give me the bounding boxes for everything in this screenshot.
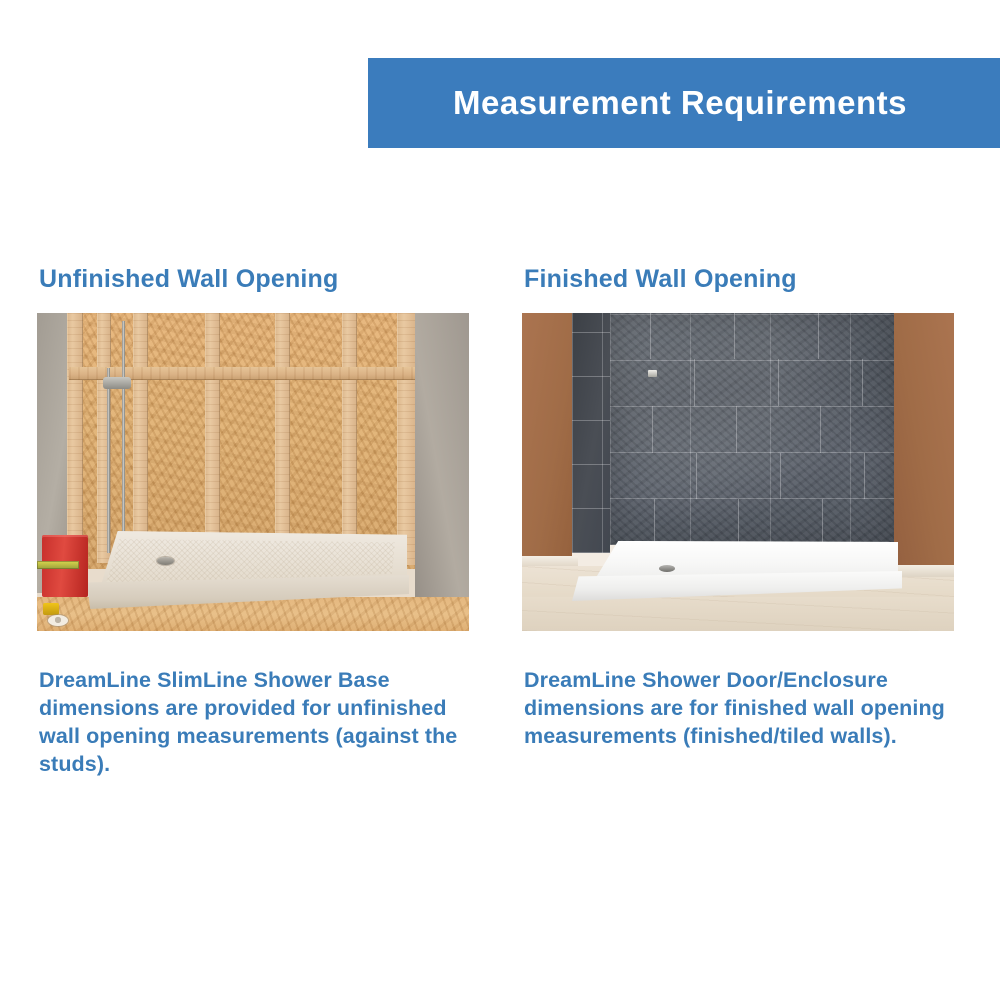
wall-fitting-icon [648,370,657,377]
photo-unfinished-wall-opening [37,313,469,631]
tile-floor-front [522,597,954,631]
unfinished-photo-scene [37,313,469,631]
tile-seam [736,406,737,453]
column-finished: Finished Wall Opening [522,265,962,772]
tile-seam [734,313,735,359]
shower-pipe-icon [107,368,110,553]
tile-seam [654,499,655,545]
tile-seam [820,406,821,453]
shower-drain-icon [659,565,675,572]
tile-seam [780,453,781,499]
tile-seam [778,359,779,406]
header-banner: Measurement Requirements [368,58,1000,148]
wall-stud [342,313,357,553]
section-title-finished: Finished Wall Opening [524,265,962,294]
pipe-valve-icon [103,377,131,389]
tile-seam [652,406,653,453]
baseboard-left [522,556,578,566]
column-unfinished: Unfinished Wall Opening [37,265,477,800]
wall-stud [133,313,148,559]
tile-seam [822,499,823,545]
shower-pipe-icon [122,321,125,549]
wall-stud [275,313,290,551]
caption-unfinished: DreamLine SlimLine Shower Base dimension… [39,667,477,779]
tile-seam [818,313,819,359]
finished-photo-scene [522,313,954,631]
wall-stud [205,313,220,553]
caption-finished: DreamLine Shower Door/Enclosure dimensio… [524,667,962,751]
shower-drain-icon [157,557,174,565]
photo-finished-wall-opening [522,313,954,631]
tile-seam [864,453,865,499]
section-title-unfinished: Unfinished Wall Opening [39,265,477,294]
drywall-panel-right-icon [415,313,469,613]
painted-wall-left [522,313,572,565]
spirit-level-icon [37,561,79,569]
tile-seam [738,499,739,545]
painted-wall-right [894,313,954,571]
tile-seam [862,359,863,406]
tape-measure-icon [43,603,59,615]
tiled-side-wall [572,313,610,553]
wall-stud [397,313,417,565]
page-title: Measurement Requirements [453,84,915,122]
baseboard-right [894,565,954,577]
tile-seam [694,359,695,406]
tile-seam [696,453,697,499]
tape-roll-icon [48,615,68,626]
tile-seam [650,313,651,359]
